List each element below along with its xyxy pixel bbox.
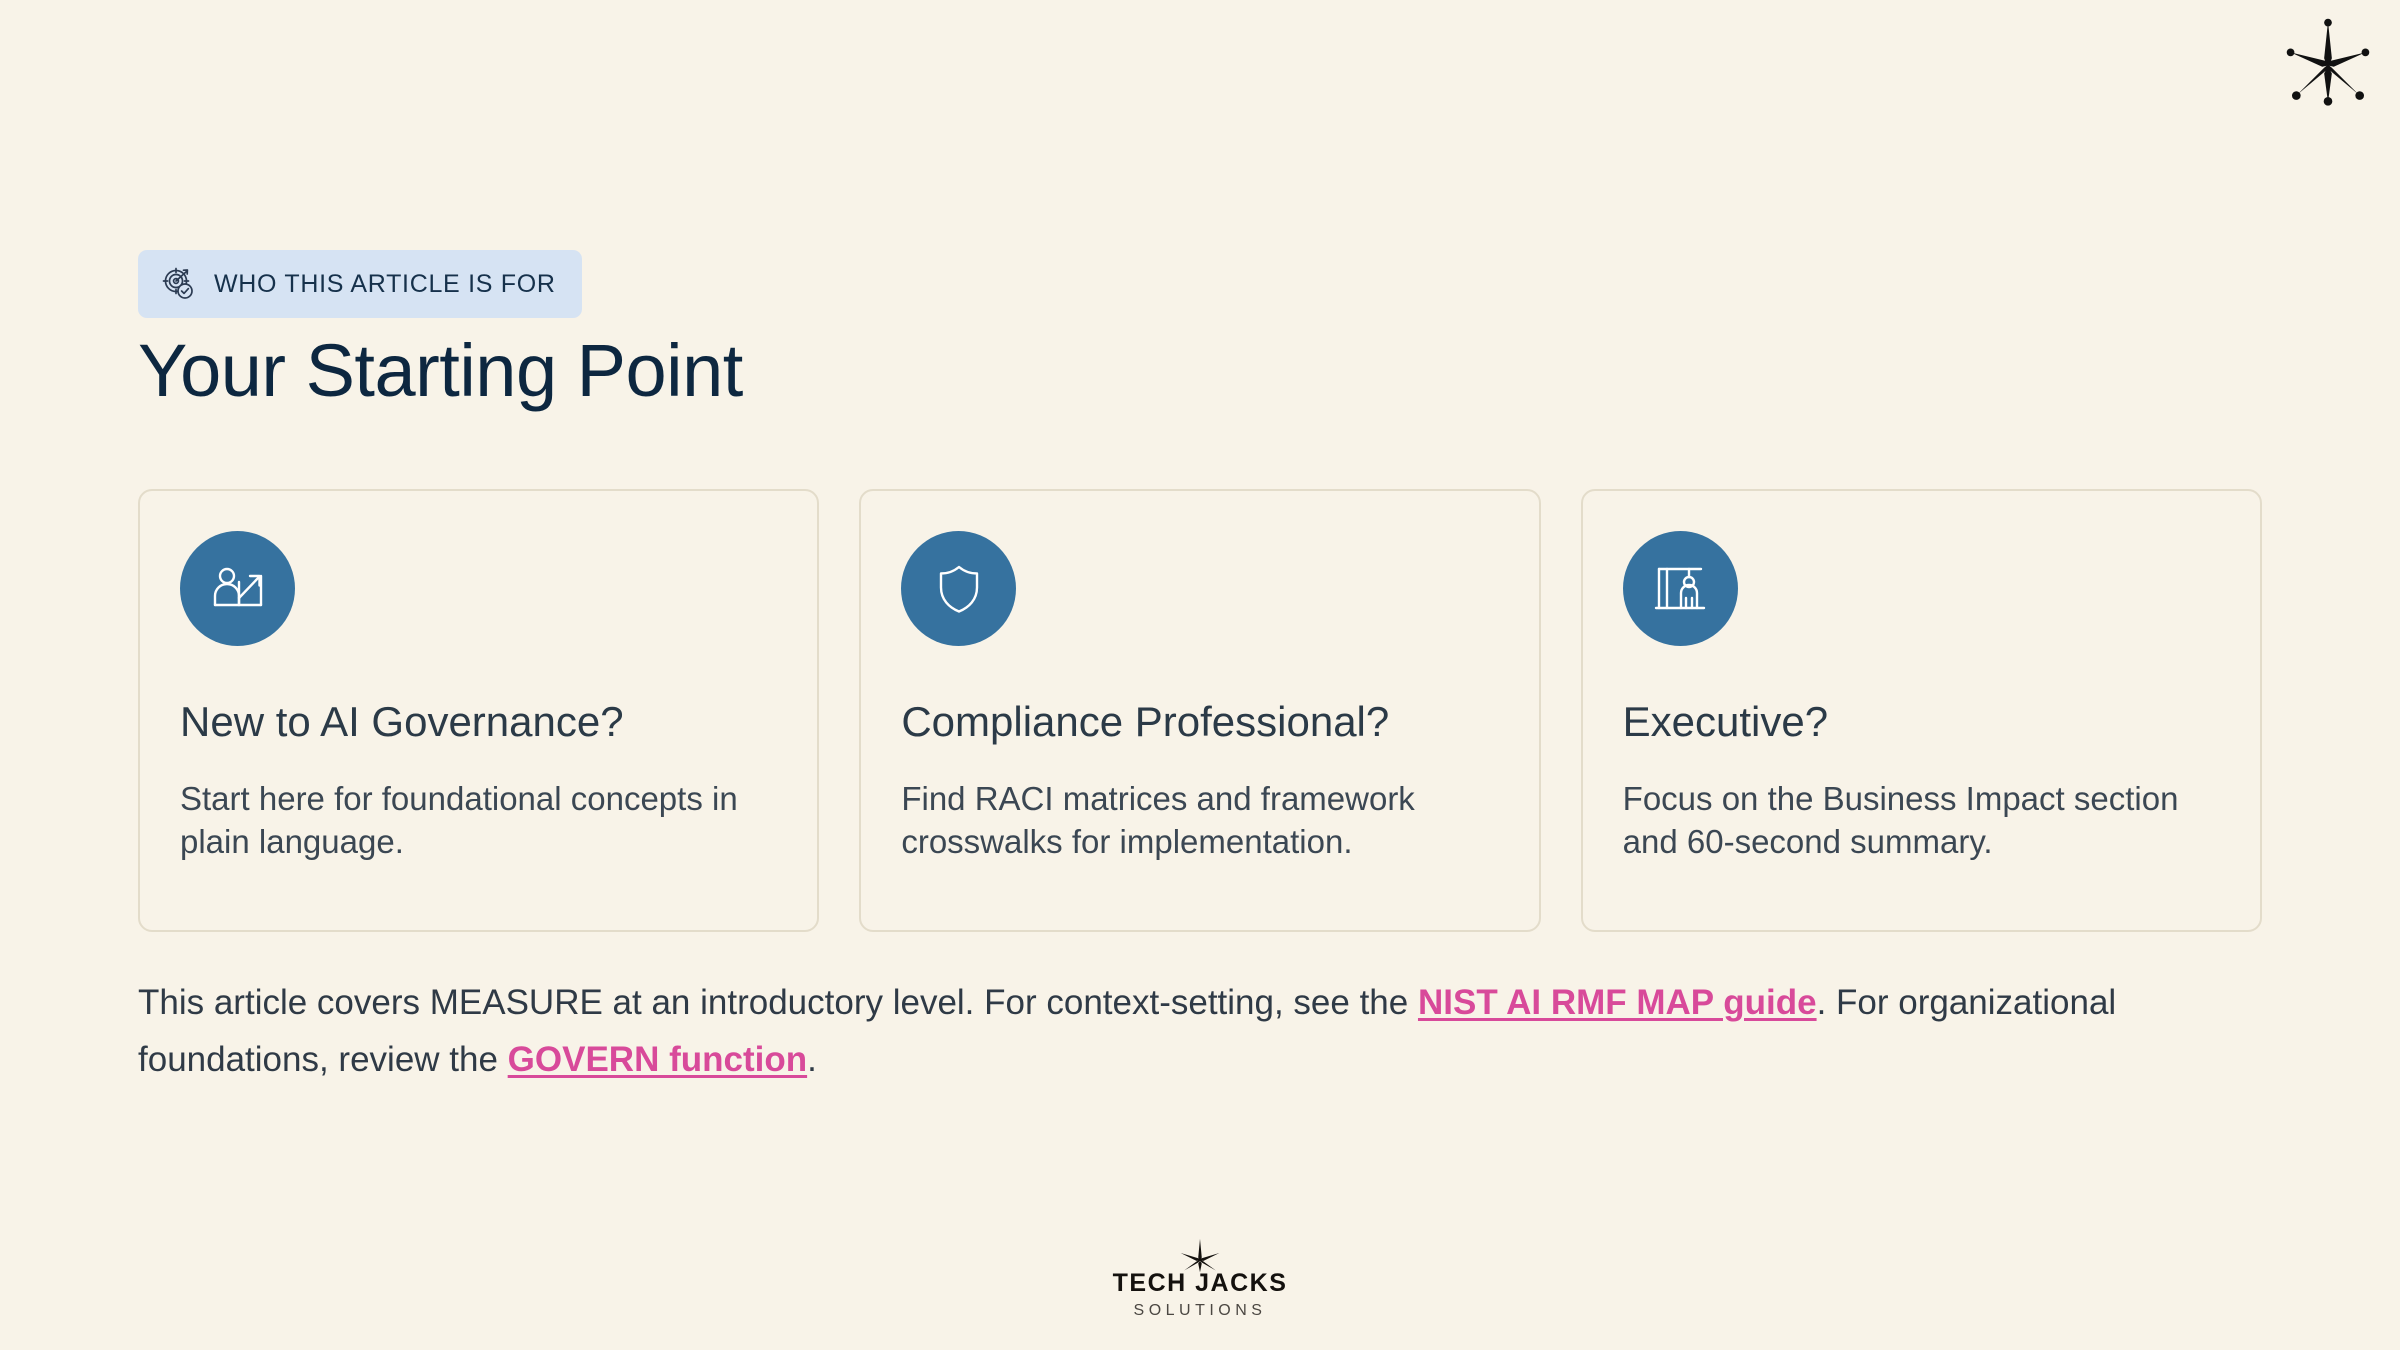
nist-ai-rmf-map-guide-link[interactable]: NIST AI RMF MAP guide xyxy=(1418,983,1817,1022)
closing-text-part1: This article covers MEASURE at an introd… xyxy=(138,983,1418,1022)
target-check-icon xyxy=(162,267,196,301)
audience-badge: WHO THIS ARTICLE IS FOR xyxy=(138,250,582,318)
closing-text-part3: . xyxy=(807,1040,817,1079)
closing-paragraph: This article covers MEASURE at an introd… xyxy=(138,975,2258,1088)
card-title: Compliance Professional? xyxy=(901,698,1498,746)
audience-badge-label: WHO THIS ARTICLE IS FOR xyxy=(214,272,556,297)
card-description: Focus on the Business Impact section and… xyxy=(1623,778,2220,864)
card-icon-badge xyxy=(180,531,295,646)
audience-card[interactable]: Compliance Professional? Find RACI matri… xyxy=(859,489,1540,932)
footer-starburst-icon xyxy=(1178,1238,1222,1272)
audience-card[interactable]: Executive? Focus on the Business Impact … xyxy=(1581,489,2262,932)
page-title: Your Starting Point xyxy=(138,330,743,411)
footer-company-subtitle: SOLUTIONS xyxy=(1134,1302,1267,1320)
footer-company-name: TECH JACKS xyxy=(1113,1270,1288,1298)
page-root: WHO THIS ARTICLE IS FOR Your Starting Po… xyxy=(0,0,2400,1350)
card-icon-badge xyxy=(1623,531,1738,646)
card-title: Executive? xyxy=(1623,698,2220,746)
card-description: Start here for foundational concepts in … xyxy=(180,778,777,864)
audience-card-grid: New to AI Governance? Start here for fou… xyxy=(138,489,2262,932)
footer-logo: TECH JACKS SOLUTIONS xyxy=(0,1238,2400,1319)
card-icon-badge xyxy=(901,531,1016,646)
card-description: Find RACI matrices and framework crosswa… xyxy=(901,778,1498,864)
brand-starburst-icon xyxy=(2280,14,2376,110)
govern-function-link[interactable]: GOVERN function xyxy=(508,1040,807,1079)
card-title: New to AI Governance? xyxy=(180,698,777,746)
user-growth-chart-icon xyxy=(209,560,267,618)
executive-podium-icon xyxy=(1651,560,1709,618)
audience-card[interactable]: New to AI Governance? Start here for fou… xyxy=(138,489,819,932)
shield-icon xyxy=(930,560,988,618)
